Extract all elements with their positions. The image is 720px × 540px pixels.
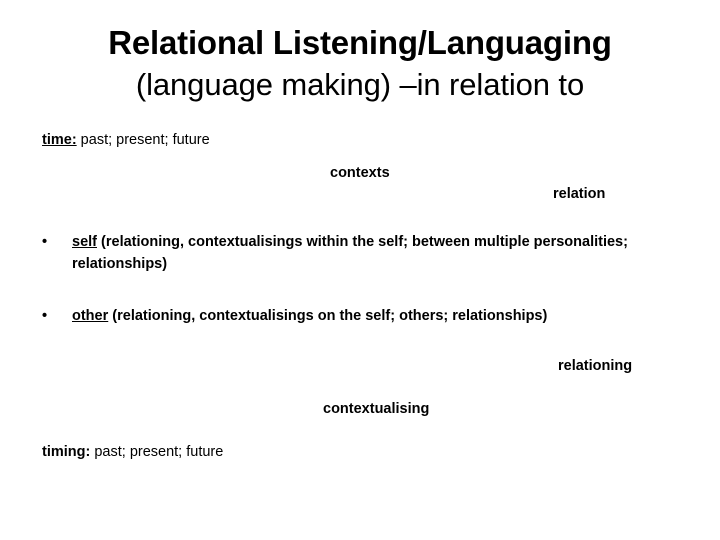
timing-value: past; present; future [90, 444, 223, 460]
slide-body: time: past; present; future contexts rel… [42, 130, 678, 463]
bullet-other: •other (relationing, contextualisings on… [42, 305, 678, 327]
timing-line: timing: past; present; future [42, 442, 678, 463]
relation-label: relation [553, 184, 678, 205]
time-line: time: past; present; future [42, 130, 678, 151]
relationing-label: relationing [558, 356, 678, 377]
contexts-label: contexts [330, 163, 678, 184]
timing-label: timing: [42, 444, 90, 460]
spacer-between-bullets [42, 275, 678, 305]
spacer-after-relation [42, 205, 678, 231]
title-line-1: Relational Listening/Languaging [0, 22, 720, 64]
time-value: past; present; future [77, 132, 210, 148]
slide-title: Relational Listening/Languaging (languag… [0, 22, 720, 106]
bullet-self: •self (relationing, contextualisings wit… [42, 231, 678, 275]
title-line-2: (language making) –in relation to [0, 64, 720, 106]
bullet-self-text: (relationing, contextualisings within th… [72, 234, 628, 272]
bullet-other-text: (relationing, contextualisings on the se… [108, 308, 547, 324]
bullet-other-keyword: other [72, 308, 108, 324]
bullet-marker-icon: • [42, 231, 72, 253]
bullet-marker-icon: • [42, 305, 72, 327]
slide-canvas: Relational Listening/Languaging (languag… [0, 0, 720, 540]
contextualising-label: contextualising [323, 399, 678, 420]
bullet-self-keyword: self [72, 234, 97, 250]
time-label: time: [42, 132, 77, 148]
